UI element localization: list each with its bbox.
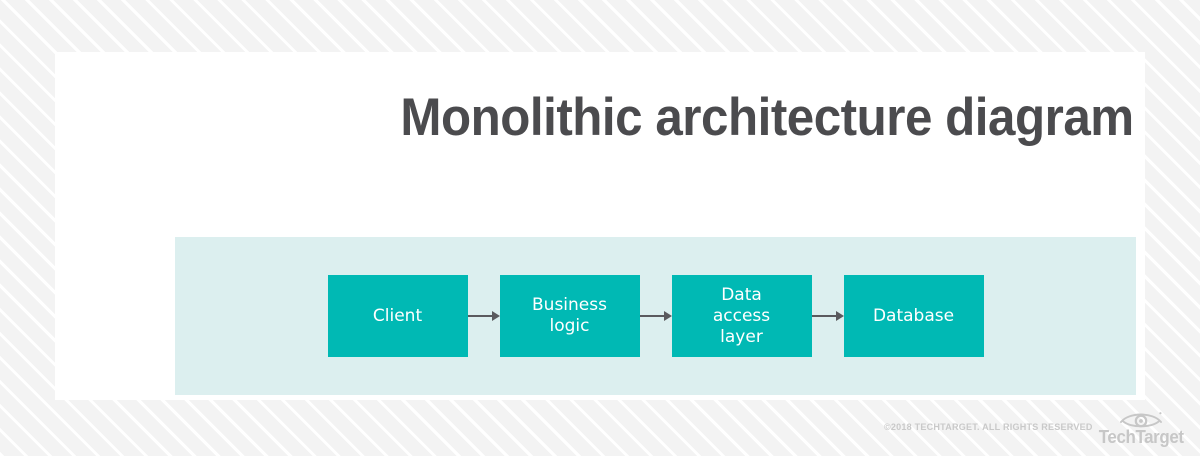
node-database-label: Database xyxy=(867,306,960,327)
node-client[interactable]: Client xyxy=(328,275,468,357)
node-business-logic[interactable]: Business logic xyxy=(500,275,640,357)
diagram-panel: Client Business logic Data access layer xyxy=(175,237,1136,395)
arrow-head-icon xyxy=(492,311,500,321)
arrow-business-logic-to-data-access-layer xyxy=(640,310,672,322)
node-data-access-layer[interactable]: Data access layer xyxy=(672,275,812,357)
copyright-text: ©2018 TECHTARGET. ALL RIGHTS RESERVED xyxy=(884,422,1093,433)
arrow-head-icon xyxy=(664,311,672,321)
arrow-client-to-business-logic xyxy=(468,310,500,322)
arrow-head-icon xyxy=(836,311,844,321)
content-card: Monolithic architecture diagram Client B… xyxy=(55,52,1145,400)
node-client-label: Client xyxy=(367,306,428,327)
node-database[interactable]: Database xyxy=(844,275,984,357)
techtarget-logo: TechTarget xyxy=(1102,409,1180,446)
flow-row: Client Business logic Data access layer xyxy=(175,237,1136,395)
arrow-shaft xyxy=(812,315,838,317)
techtarget-wordmark: TechTarget xyxy=(1099,428,1184,446)
node-data-access-layer-label: Data access layer xyxy=(707,285,776,348)
diagram-canvas: Monolithic architecture diagram Client B… xyxy=(0,0,1200,456)
footer: ©2018 TECHTARGET. ALL RIGHTS RESERVED Te… xyxy=(860,404,1180,450)
node-business-logic-label: Business logic xyxy=(526,295,613,337)
arrow-shaft xyxy=(468,315,494,317)
page-title: Monolithic architecture diagram xyxy=(260,89,1200,147)
arrow-data-access-layer-to-database xyxy=(812,310,844,322)
arrow-shaft xyxy=(640,315,666,317)
eye-icon xyxy=(1119,409,1163,429)
